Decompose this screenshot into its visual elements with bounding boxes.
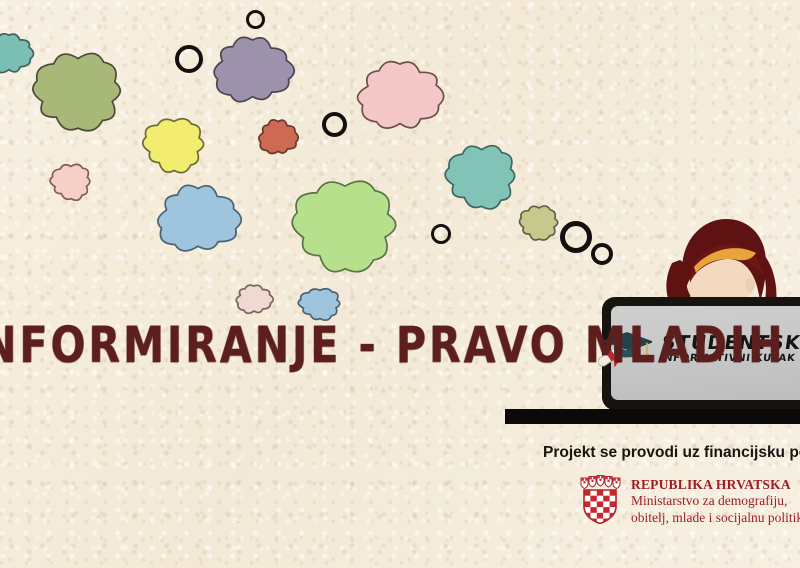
ministry-line-2: Ministarstvo za demografiju, [631, 493, 800, 509]
cloud-globe [344, 45, 456, 145]
cloud-user [200, 22, 305, 117]
ministry-line-3: obitelj, mlade i socijalnu politiku [631, 510, 800, 526]
thought-bubble-3 [431, 224, 451, 244]
thought-bubble-5 [591, 243, 613, 265]
ministry-logo-block: REPUBLIKA HRVATSKA Ministarstvo za demog… [578, 474, 800, 529]
cloud-plain-pink [44, 157, 98, 207]
thought-bubble-6 [246, 10, 265, 29]
page-title: NFORMIRANJE - PRAVO MLADIH [0, 316, 785, 374]
funding-statement: Projekt se provodi uz financijsku pot [543, 444, 800, 462]
poster-canvas: STUDENTSKI INFORMATIVNI KUTAK ZAGREB NFO… [0, 0, 800, 568]
ministry-line-1: REPUBLIKA HRVATSKA [631, 477, 800, 493]
cloud-plain-teal [0, 24, 40, 82]
croatian-coat-of-arms-icon [578, 474, 622, 529]
thought-bubble-4 [560, 221, 592, 253]
laptop-base [505, 409, 800, 424]
thought-bubble-1 [175, 45, 203, 73]
cloud-pin [275, 162, 415, 290]
ministry-name: REPUBLIKA HRVATSKA Ministarstvo za demog… [631, 474, 800, 526]
